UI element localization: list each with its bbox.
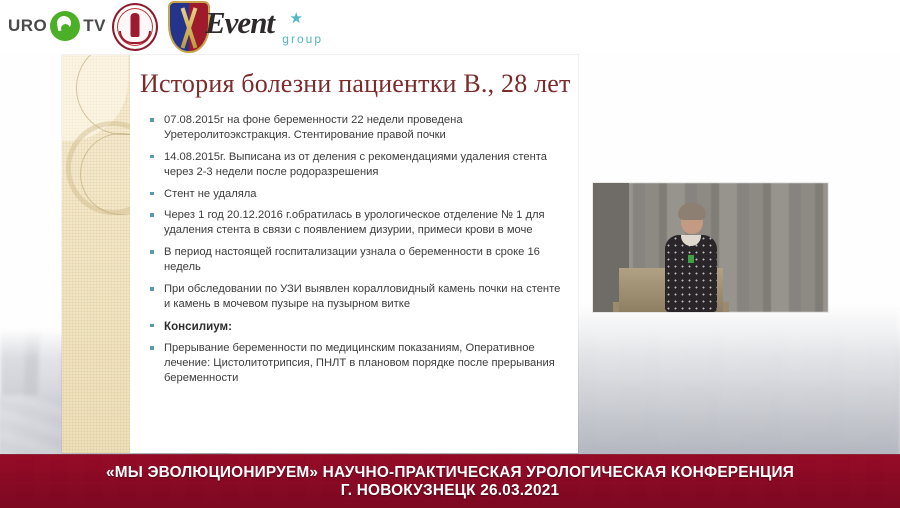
shield-emblem xyxy=(168,1,210,53)
slide-title: История болезни пациентки В., 28 лет xyxy=(140,69,564,99)
urotv-logo-right-text: TV xyxy=(83,16,106,36)
star-icon: ★ xyxy=(290,11,303,26)
presentation-stage: URO TV ★ Event group История болезн xyxy=(0,0,900,508)
video-speaker-badge xyxy=(688,255,694,263)
slide-bullet-item: 07.08.2015г на фоне беременности 22 неде… xyxy=(148,113,566,143)
slide-bullet-list: 07.08.2015г на фоне беременности 22 неде… xyxy=(148,113,566,393)
speaker-video-inset[interactable] xyxy=(593,183,828,312)
logo-bar: URO TV ★ Event group xyxy=(0,0,900,52)
slide-bullet-item: Через 1 год 20.12.2016 г.обратилась в ур… xyxy=(148,208,566,238)
conference-banner: «МЫ ЭВОЛЮЦИОНИРУЕМ» НАУЧНО-ПРАКТИЧЕСКАЯ … xyxy=(0,454,900,508)
urotv-logo-left-text: URO xyxy=(8,16,47,36)
leaf-circle-icon xyxy=(50,11,80,41)
slide-bullet-item-heading: Консилиум: xyxy=(148,319,566,334)
slide-bullet-item: 14.08.2015г. Выписана из от деления с ре… xyxy=(148,150,566,180)
event-group-logo[interactable]: ★ Event group xyxy=(205,2,325,50)
slide-bullet-item: В период настоящей госпитализации узнала… xyxy=(148,245,566,275)
video-speaker-hair xyxy=(678,203,706,220)
conference-banner-line-1: «МЫ ЭВОЛЮЦИОНИРУЕМ» НАУЧНО-ПРАКТИЧЕСКАЯ … xyxy=(106,464,794,481)
background-hall-photo-right xyxy=(575,300,900,460)
seal-emblem xyxy=(112,3,158,51)
conference-banner-line-2: Г. НОВОКУЗНЕЦК 26.03.2021 xyxy=(341,482,559,499)
slide-bullet-item: Стент не удаляла xyxy=(148,187,566,202)
medical-academy-seal-icon[interactable] xyxy=(112,4,158,50)
video-speaker-body xyxy=(665,235,717,312)
urotv-logo[interactable]: URO TV xyxy=(8,8,106,44)
slide: История болезни пациентки В., 28 лет 07.… xyxy=(62,55,578,453)
heraldic-shield-icon[interactable] xyxy=(168,2,210,52)
slide-bullet-item: Прерывание беременности по медицинским п… xyxy=(148,341,566,386)
slide-bullet-item: При обследовании по УЗИ выявлен кораллов… xyxy=(148,282,566,312)
slide-decoration-sidebar xyxy=(62,55,130,453)
